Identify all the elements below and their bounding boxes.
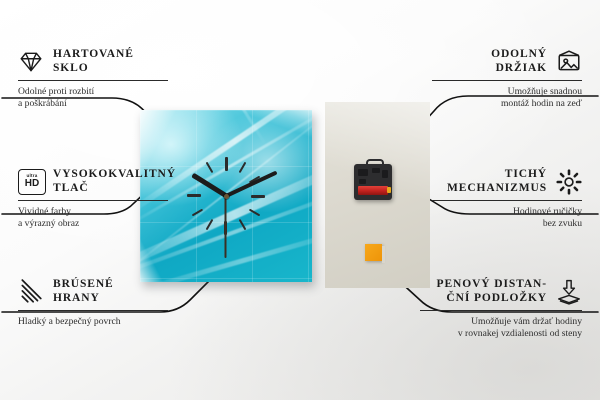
feature-description: Hodinové ručičky bez zvuku <box>432 206 582 230</box>
feature-tempered-glass: HARTOVANÉ SKLO Odolné proti rozbití a po… <box>18 48 168 110</box>
divider <box>432 200 582 201</box>
feature-title: VYSOKOKVALITNÝ TLAČ <box>53 168 176 195</box>
arrow-onto-layers-icon <box>556 279 582 305</box>
feature-title: PENOVÝ DISTAN- ČNÍ PODLOŽKY <box>437 278 547 305</box>
feature-durable-holder: ODOLNÝ DRŽIAK Umožňuje snadnou montáž ho… <box>432 48 582 110</box>
clock-mechanism <box>354 164 392 200</box>
feature-title: ODOLNÝ DRŽIAK <box>491 48 547 75</box>
feature-description: Vividné farby a výrazný obraz <box>18 206 168 230</box>
feature-silent-mechanism: TICHÝ MECHANIZMUS Hodinové ručičky bez z… <box>432 168 582 230</box>
infographic-canvas: HARTOVANÉ SKLO Odolné proti rozbití a po… <box>0 0 600 400</box>
gear-icon <box>556 169 582 195</box>
feature-high-quality-print: ultra HD VYSOKOKVALITNÝ TLAČ Vividné far… <box>18 168 168 230</box>
feature-description: Odolné proti rozbití a poškrábání <box>18 86 168 110</box>
feature-foam-spacers: PENOVÝ DISTAN- ČNÍ PODLOŽKY Umožňuje vám… <box>420 278 582 340</box>
divider <box>18 310 168 311</box>
feature-description: Umožňuje snadnou montáž hodin na zeď <box>432 86 582 110</box>
hand-cap <box>224 194 229 199</box>
product-photo <box>140 102 430 288</box>
divider <box>18 80 168 81</box>
diagonal-lines-icon <box>18 279 44 305</box>
ultra-hd-icon: ultra HD <box>18 169 44 195</box>
divider <box>18 200 168 201</box>
feature-title: TICHÝ MECHANIZMUS <box>447 168 547 195</box>
foam-spacer-pad <box>365 244 382 261</box>
feature-title: HARTOVANÉ SKLO <box>53 48 134 75</box>
feature-description: Hladký a bezpečný povrch <box>18 316 168 328</box>
picture-frame-icon <box>556 49 582 75</box>
feature-polished-edges: BRÚSENÉ HRANY Hladký a bezpečný povrch <box>18 278 168 328</box>
feature-description: Umožňuje vám držať hodiny v rovnakej vzd… <box>420 316 582 340</box>
diamond-icon <box>18 49 44 75</box>
divider <box>420 310 582 311</box>
divider <box>432 80 582 81</box>
battery <box>358 186 388 195</box>
feature-title: BRÚSENÉ HRANY <box>53 278 114 305</box>
